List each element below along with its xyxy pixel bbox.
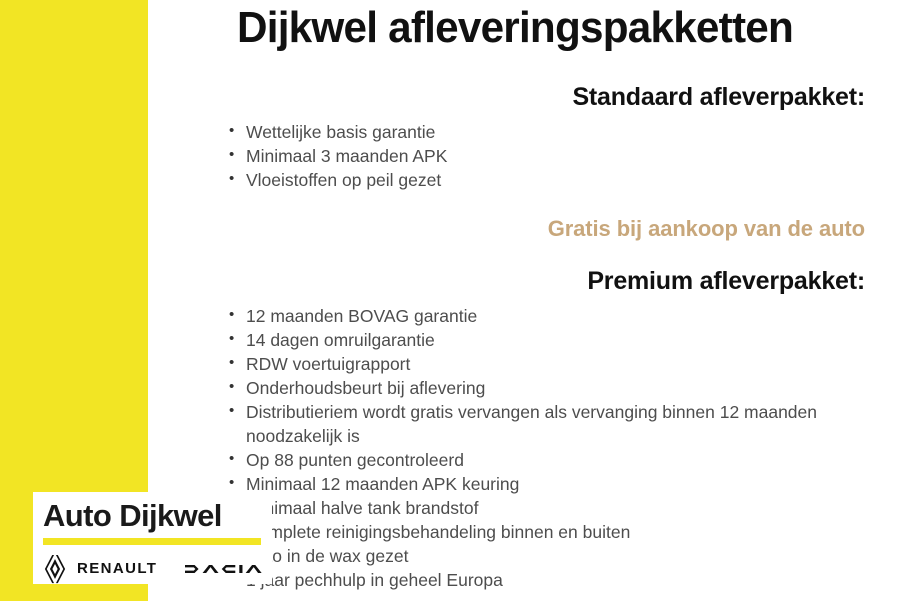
list-item: Wettelijke basis garantie <box>229 120 865 144</box>
list-item: Vloeistoffen op peil gezet <box>229 168 865 192</box>
renault-wordmark: RENAULT <box>77 560 157 577</box>
free-with-purchase-tagline: Gratis bij aankoop van de auto <box>165 192 865 242</box>
premium-package-heading: Premium afleverpakket: <box>165 243 865 296</box>
list-item: Minimaal halve tank brandstof <box>229 496 865 520</box>
list-item: Complete reinigingsbehandeling binnen en… <box>229 520 865 544</box>
list-item: Op 88 punten gecontroleerd <box>229 448 865 472</box>
list-item: Minimaal 3 maanden APK <box>229 144 865 168</box>
page-title: Dijkwel afleveringspakketten <box>179 0 851 52</box>
logo-wordmark: Auto Dijkwel <box>43 500 262 533</box>
list-item: Minimaal 12 maanden APK keuring <box>229 472 865 496</box>
list-item: 12 maanden BOVAG garantie <box>229 304 865 328</box>
logo-underline-bar <box>43 538 261 545</box>
list-item: Onderhoudsbeurt bij aflevering <box>229 376 865 400</box>
list-item: RDW voertuigrapport <box>229 352 865 376</box>
renault-diamond-icon <box>43 554 67 584</box>
list-item: Distributieriem wordt gratis vervangen a… <box>229 400 865 448</box>
list-item: Auto in de wax gezet <box>229 544 865 568</box>
list-item: 14 dagen omruilgarantie <box>229 328 865 352</box>
standard-package-heading: Standaard afleverpakket: <box>165 52 865 112</box>
dacia-wordmark-icon <box>185 560 262 578</box>
list-item: 1 jaar pechhulp in geheel Europa <box>229 568 865 592</box>
brand-row: RENAULT <box>43 554 262 584</box>
standard-package-list: Wettelijke basis garantie Minimaal 3 maa… <box>165 120 865 192</box>
dealer-logo: Auto Dijkwel RENAULT <box>33 492 272 584</box>
